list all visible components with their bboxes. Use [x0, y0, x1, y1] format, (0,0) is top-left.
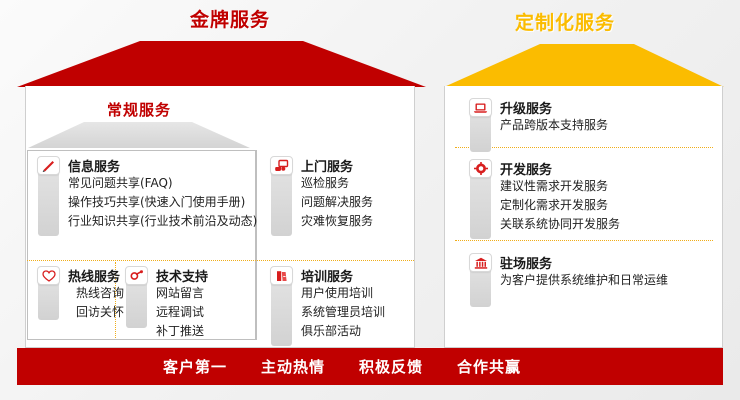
service-item: 建议性需求开发服务 — [500, 177, 620, 196]
service-item: 补丁推送 — [156, 322, 204, 341]
service-item: 灾难恢复服务 — [301, 212, 373, 231]
service-item: 常见问题共享(FAQ) — [68, 174, 257, 193]
service-title: 热线服务 — [68, 266, 120, 285]
service-items: 产品跨版本支持服务 — [500, 116, 608, 135]
service-item: 为客户提供系统维护和日常运维 — [500, 271, 668, 290]
slogan-item: 客户第一 — [163, 356, 227, 377]
service-title: 技术支持 — [156, 266, 208, 285]
right-roof-shape — [444, 44, 724, 87]
inner-gray-roof — [28, 122, 250, 148]
service-title: 升级服务 — [500, 98, 552, 117]
service-item: 俱乐部活动 — [301, 322, 385, 341]
right-divider-1 — [455, 147, 713, 148]
regular-service-panel: 常规服务 信息服务 常见问题共享(FAQ) 操作技巧共享(快速入门使用手册) 行… — [25, 86, 415, 348]
left-panel-divider — [27, 260, 414, 261]
service-item: 远程调试 — [156, 303, 204, 322]
gold-service-title: 金牌服务 — [118, 5, 342, 32]
service-title: 信息服务 — [68, 156, 120, 175]
service-item: 网站留言 — [156, 284, 204, 303]
left-roof-shape — [17, 41, 426, 87]
service-item: 热线咨询 — [76, 284, 124, 303]
books-icon — [270, 266, 293, 285]
slogan-bar: 客户第一 主动热情 积极反馈 合作共赢 — [17, 348, 723, 385]
service-item: 用户使用培训 — [301, 284, 385, 303]
service-item: 问题解决服务 — [301, 193, 373, 212]
service-item: 产品跨版本支持服务 — [500, 116, 608, 135]
service-title: 开发服务 — [500, 159, 552, 178]
slogan-item: 积极反馈 — [359, 356, 423, 377]
bank-icon — [469, 253, 492, 272]
service-item: 巡检服务 — [301, 174, 373, 193]
service-item: 关联系统协同开发服务 — [500, 215, 620, 234]
slogan-item: 合作共赢 — [457, 356, 521, 377]
service-items: 建议性需求开发服务 定制化需求开发服务 关联系统协同开发服务 — [500, 177, 620, 234]
service-items: 巡检服务 问题解决服务 灾难恢复服务 — [301, 174, 373, 231]
service-title: 驻场服务 — [500, 253, 552, 272]
service-items: 为客户提供系统维护和日常运维 — [500, 271, 668, 290]
service-items: 用户使用培训 系统管理员培训 俱乐部活动 — [301, 284, 385, 341]
service-items: 热线咨询 回访关怀 — [76, 284, 124, 322]
pen-icon — [37, 156, 60, 175]
gear-icon — [469, 159, 492, 178]
onsite-hand-icon — [270, 156, 293, 175]
service-item: 操作技巧共享(快速入门使用手册) — [68, 193, 257, 212]
right-divider-2 — [455, 240, 713, 241]
regular-service-title: 常规服务 — [28, 99, 250, 120]
service-item: 行业知识共享(行业技术前沿及动态) — [68, 212, 257, 231]
service-item: 系统管理员培训 — [301, 303, 385, 322]
laptop-icon — [469, 98, 492, 117]
custom-service-title: 定制化服务 — [470, 8, 660, 35]
service-items: 网站留言 远程调试 补丁推送 — [156, 284, 204, 341]
service-item: 定制化需求开发服务 — [500, 196, 620, 215]
infographic-root: 金牌服务 定制化服务 常规服务 信息服务 常见问题共享(FAQ) 操作技巧共享(… — [0, 0, 740, 400]
heart-icon — [37, 266, 60, 285]
wrench-gear-icon — [125, 266, 148, 285]
slogan-item: 主动热情 — [261, 356, 325, 377]
service-title: 培训服务 — [301, 266, 353, 285]
custom-service-panel: 升级服务 产品跨版本支持服务 开发服务 — [444, 86, 723, 348]
service-items: 常见问题共享(FAQ) 操作技巧共享(快速入门使用手册) 行业知识共享(行业技术… — [68, 174, 257, 231]
service-item: 回访关怀 — [76, 303, 124, 322]
service-title: 上门服务 — [301, 156, 353, 175]
